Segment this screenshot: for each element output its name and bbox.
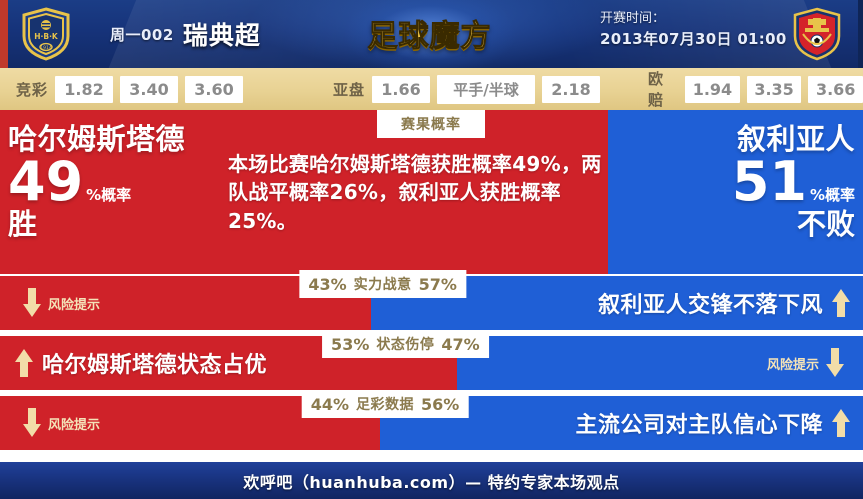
away-verdict-label: 叙利亚人交锋不落下风	[598, 287, 823, 319]
kickoff-info: 开赛时间： 2013年07月30日 01:00	[600, 10, 790, 51]
row-category-chip: 43% 实力战意 57%	[299, 270, 466, 298]
odds-bar: 竞彩 1.82 3.40 3.60 亚盘 1.66 平手/半球 2.18 欧赔 …	[0, 68, 863, 110]
odds-group-jingcai: 竞彩 1.82 3.40 3.60	[16, 76, 243, 103]
svg-text:H·B·K: H·B·K	[34, 32, 59, 41]
odds-group-label: 竞彩	[16, 79, 48, 100]
comparison-row: 风险提示 主流公司对主队信心下降 44% 足彩数据 56%	[0, 396, 863, 450]
kickoff-label: 开赛时间：	[600, 10, 790, 29]
comparison-row: 哈尔姆斯塔德状态占优 风险提示 53% 状态伤停 47%	[0, 336, 863, 390]
arrow-up-icon	[14, 348, 34, 378]
away-probability-number: 51	[732, 156, 807, 207]
probability-panel: 赛果概率 哈尔姆斯塔德 49 %概率 胜 本场比赛哈尔姆斯塔德获胜概率49%，两…	[0, 110, 863, 274]
home-probability-value-row: 49 %概率	[8, 156, 223, 207]
row-category-chip: 44% 足彩数据 56%	[302, 390, 469, 418]
footer-credit-text: 欢呼吧（huanhuba.com）— 特约专家本场观点	[243, 469, 619, 493]
arrow-down-icon	[22, 288, 42, 318]
home-risk-label: 风险提示	[48, 414, 100, 433]
away-verdict-label: 主流公司对主队信心下降	[575, 407, 823, 439]
svg-text:1914: 1914	[40, 45, 52, 51]
home-risk-label: 风险提示	[48, 294, 100, 313]
away-share-pct: 56%	[421, 395, 459, 414]
euro-odds-away[interactable]: 3.66	[808, 76, 863, 103]
home-share-pct: 53%	[331, 335, 369, 354]
home-verdict-label: 哈尔姆斯塔德状态占优	[42, 347, 267, 379]
away-probability-unit: %概率	[810, 184, 855, 205]
odds-group-yapan: 亚盘 1.66 平手/半球 2.18	[333, 75, 600, 104]
away-risk-note: 风险提示	[767, 336, 845, 390]
row-category-chip: 53% 状态伤停 47%	[322, 330, 489, 358]
handicap-cell-away[interactable]: 2.18	[542, 76, 600, 103]
euro-odds-home[interactable]: 1.94	[685, 76, 740, 103]
euro-odds-draw[interactable]: 3.35	[747, 76, 802, 103]
kickoff-datetime: 2013年07月30日 01:00	[600, 29, 790, 51]
odds-group-label: 亚盘	[333, 79, 365, 100]
away-risk-label: 风险提示	[767, 354, 819, 373]
handicap-cell-line[interactable]: 平手/半球	[437, 75, 535, 104]
league-name: 瑞典超	[183, 16, 261, 52]
arrow-down-icon	[825, 348, 845, 378]
probability-summary-text: 本场比赛哈尔姆斯塔德获胜概率49%，两队战平概率26%，叙利亚人获胜概率25%。	[228, 150, 620, 235]
category-label: 状态伤停	[376, 334, 434, 354]
comparison-row: 风险提示 叙利亚人交锋不落下风 43% 实力战意 57%	[0, 276, 863, 330]
home-risk-note: 风险提示	[22, 276, 100, 330]
away-share-pct: 47%	[441, 335, 479, 354]
away-outcome-label: 不败	[620, 209, 855, 239]
home-verdict: 哈尔姆斯塔德状态占优	[14, 336, 267, 390]
arrow-up-icon	[831, 408, 851, 438]
home-share-pct: 43%	[308, 275, 346, 294]
odds-group-label: 欧赔	[648, 68, 678, 110]
home-risk-note: 风险提示	[22, 396, 100, 450]
round-number: 周一002	[110, 24, 174, 45]
odds-group-oupei: 欧赔 1.94 3.35 3.66	[648, 68, 863, 110]
home-probability-unit: %概率	[86, 184, 131, 205]
away-team-crest-icon	[789, 6, 845, 62]
comparison-rows: 风险提示 叙利亚人交锋不落下风 43% 实力战意 57%	[0, 276, 863, 454]
header-left-red-stripe	[0, 0, 8, 68]
away-probability-block: 叙利亚人 51 %概率 不败	[620, 124, 855, 239]
category-label: 足彩数据	[356, 394, 414, 414]
category-label: 实力战意	[354, 274, 412, 294]
home-probability-block: 哈尔姆斯塔德 49 %概率 胜	[8, 124, 223, 239]
brand-logo-text: 足球魔方	[368, 11, 492, 55]
header-right-navy-stripe	[858, 0, 863, 68]
home-team-crest-icon: H·B·K 1914	[18, 6, 74, 62]
away-verdict: 叙利亚人交锋不落下风	[598, 276, 851, 330]
section-tab-result-probability: 赛果概率	[377, 110, 485, 138]
odds-cell-home[interactable]: 1.82	[55, 76, 113, 103]
away-share-pct: 57%	[419, 275, 457, 294]
handicap-cell-home[interactable]: 1.66	[372, 76, 430, 103]
arrow-down-icon	[22, 408, 42, 438]
odds-cell-away[interactable]: 3.60	[185, 76, 243, 103]
home-share-pct: 44%	[311, 395, 349, 414]
header-bar: H·B·K 1914 周一002 瑞典超 足球魔方 开赛时间： 2013年07月…	[0, 0, 863, 68]
footer-bar: 欢呼吧（huanhuba.com）— 特约专家本场观点	[0, 462, 863, 499]
match-preview-graphic: H·B·K 1914 周一002 瑞典超 足球魔方 开赛时间： 2013年07月…	[0, 0, 863, 499]
home-probability-number: 49	[8, 156, 83, 207]
away-probability-value-row: 51 %概率	[620, 156, 855, 207]
brand-logo: 足球魔方	[352, 8, 507, 58]
league-info: 周一002 瑞典超	[110, 14, 261, 54]
home-outcome-label: 胜	[8, 209, 223, 239]
arrow-up-icon	[831, 288, 851, 318]
away-verdict: 主流公司对主队信心下降	[575, 396, 851, 450]
odds-cell-draw[interactable]: 3.40	[120, 76, 178, 103]
